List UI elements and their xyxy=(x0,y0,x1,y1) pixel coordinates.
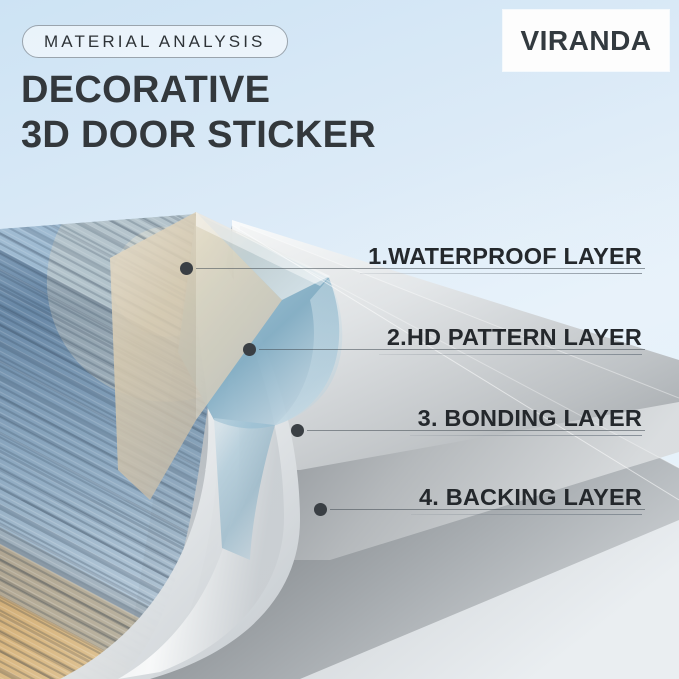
layer-label-3: 3. BONDING LAYER xyxy=(410,405,642,436)
title-line-2: 3D DOOR STICKER xyxy=(21,113,491,158)
layer-label-rule-4 xyxy=(411,514,642,515)
eyebrow-label: MATERIAL ANALYSIS xyxy=(44,32,266,52)
eyebrow-badge: MATERIAL ANALYSIS xyxy=(22,25,288,58)
leader-line-3 xyxy=(307,430,645,431)
page-title: DECORATIVE 3D DOOR STICKER xyxy=(21,68,491,158)
layer-label-text-3: 3. BONDING LAYER xyxy=(418,405,642,431)
leader-line-4 xyxy=(330,509,645,510)
title-line-1: DECORATIVE xyxy=(21,68,491,113)
brand-name: VIRANDA xyxy=(520,25,651,57)
callout-dot-3 xyxy=(291,424,304,437)
layer-label-rule-2 xyxy=(379,354,642,355)
leader-line-1 xyxy=(196,268,645,269)
layer-label-4: 4. BACKING LAYER xyxy=(411,484,642,515)
callout-dot-1 xyxy=(180,262,193,275)
layer-label-text-1: 1.WATERPROOF LAYER xyxy=(368,243,642,269)
layer-label-2: 2.HD PATTERN LAYER xyxy=(379,324,642,355)
brand-logo-panel: VIRANDA xyxy=(503,10,669,71)
callout-dot-4 xyxy=(314,503,327,516)
infographic-page: MATERIAL ANALYSIS DECORATIVE 3D DOOR STI… xyxy=(0,0,679,679)
layer-label-text-4: 4. BACKING LAYER xyxy=(419,484,642,510)
layer-label-text-2: 2.HD PATTERN LAYER xyxy=(387,324,642,350)
leader-line-2 xyxy=(259,349,645,350)
layer-label-rule-1 xyxy=(360,273,642,274)
layer-label-rule-3 xyxy=(410,435,642,436)
callout-dot-2 xyxy=(243,343,256,356)
layer-label-1: 1.WATERPROOF LAYER xyxy=(360,243,642,274)
